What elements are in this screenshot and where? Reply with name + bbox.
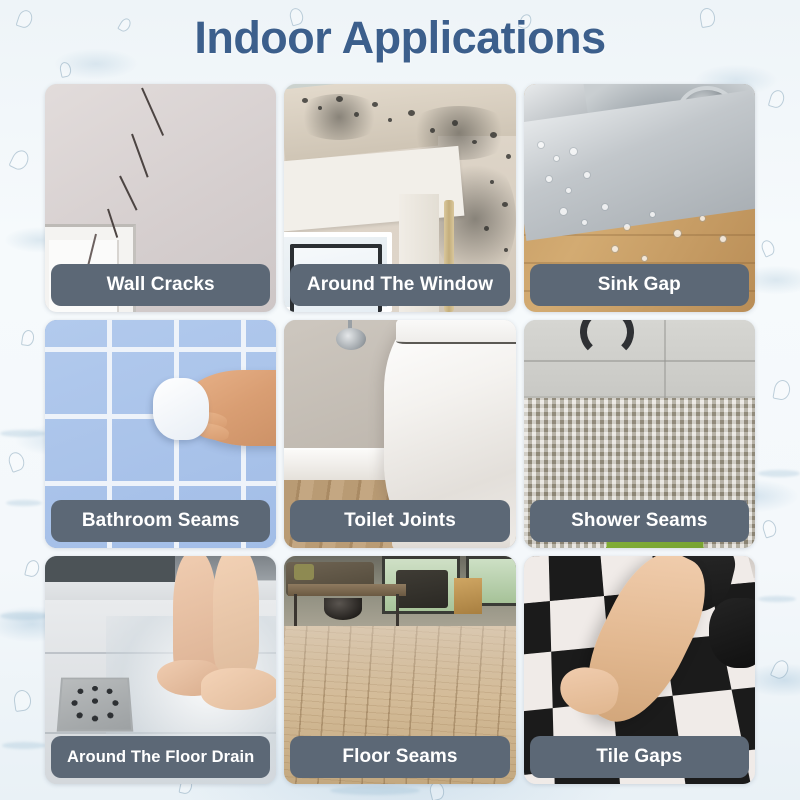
water-droplet xyxy=(546,176,552,182)
wall-crack-segment xyxy=(119,176,137,211)
floor-sheen xyxy=(284,626,515,696)
water-streak xyxy=(0,430,46,437)
tile-tile-gaps[interactable]: Tile Gaps xyxy=(524,556,755,784)
page-title: Indoor Applications xyxy=(0,12,800,64)
water-droplet xyxy=(554,156,559,161)
pillow xyxy=(294,564,314,580)
tile-shower-seams[interactable]: Shower Seams xyxy=(524,320,755,548)
tile-label-around-the-floor-drain: Around The Floor Drain xyxy=(51,736,270,778)
water-droplet xyxy=(538,142,544,148)
water-droplet xyxy=(624,224,630,230)
shower-wall xyxy=(524,320,755,398)
baseboard xyxy=(284,448,396,480)
water-streak xyxy=(0,612,50,620)
tile-bathroom-seams[interactable]: Bathroom Seams xyxy=(45,320,276,548)
cleaning-sponge xyxy=(153,378,209,440)
floor-drain-grate xyxy=(57,678,134,732)
water-drop-icon xyxy=(6,450,27,473)
table-leg xyxy=(396,594,399,630)
foot xyxy=(201,668,276,710)
tile-around-the-floor-drain[interactable]: Around The Floor Drain xyxy=(45,556,276,784)
leg xyxy=(213,556,259,680)
wall-tile-seam xyxy=(664,320,666,398)
wooden-stool xyxy=(454,578,482,614)
tile-label-wall-cracks: Wall Cracks xyxy=(51,264,270,306)
toilet-seat xyxy=(396,320,515,344)
water-droplet xyxy=(642,256,647,261)
water-drop-icon xyxy=(772,379,791,401)
water-drop-icon xyxy=(768,88,786,109)
tile-sink-gap[interactable]: Sink Gap xyxy=(524,84,755,312)
water-drop-icon xyxy=(21,329,35,347)
water-droplet xyxy=(582,220,587,225)
tile-floor-seams[interactable]: Floor Seams xyxy=(284,556,515,784)
tile-toilet-joints[interactable]: Toilet Joints xyxy=(284,320,515,548)
water-droplet xyxy=(602,204,608,210)
wall-tile-seam xyxy=(524,360,755,362)
coffee-table xyxy=(288,584,406,596)
tile-label-floor-seams: Floor Seams xyxy=(290,736,509,778)
water-droplet xyxy=(560,208,567,215)
water-drop-icon xyxy=(759,238,776,257)
water-drop-icon xyxy=(770,658,791,681)
water-droplet xyxy=(700,216,705,221)
table-leg xyxy=(294,594,297,630)
tile-label-toilet-joints: Toilet Joints xyxy=(290,500,509,542)
water-droplet xyxy=(584,172,590,178)
water-streak xyxy=(758,596,796,602)
water-drop-icon xyxy=(8,148,31,173)
curb-shadow xyxy=(45,556,175,582)
water-streak xyxy=(6,500,42,506)
applications-grid: Wall Cracks xyxy=(45,84,755,784)
tile-label-shower-seams: Shower Seams xyxy=(530,500,749,542)
water-drop-icon xyxy=(13,689,33,712)
water-droplet xyxy=(674,230,681,237)
wall-crack-segment xyxy=(141,88,164,136)
water-droplet xyxy=(612,246,618,252)
water-droplet xyxy=(720,236,726,242)
wall-crack-segment xyxy=(131,134,149,178)
water-droplet xyxy=(650,212,655,217)
water-drop-icon xyxy=(761,518,779,538)
water-drop-icon xyxy=(24,559,41,579)
tile-wall-cracks[interactable]: Wall Cracks xyxy=(45,84,276,312)
tile-around-the-window[interactable]: Around The Window xyxy=(284,84,515,312)
tile-label-sink-gap: Sink Gap xyxy=(530,264,749,306)
water-streak xyxy=(758,470,800,477)
water-streak xyxy=(330,786,420,795)
water-droplet xyxy=(570,148,577,155)
water-droplet xyxy=(566,188,571,193)
tile-label-around-the-window: Around The Window xyxy=(290,264,509,306)
tile-label-tile-gaps: Tile Gaps xyxy=(530,736,749,778)
water-streak xyxy=(2,742,46,749)
tile-label-bathroom-seams: Bathroom Seams xyxy=(51,500,270,542)
black-sleeve xyxy=(709,598,755,668)
